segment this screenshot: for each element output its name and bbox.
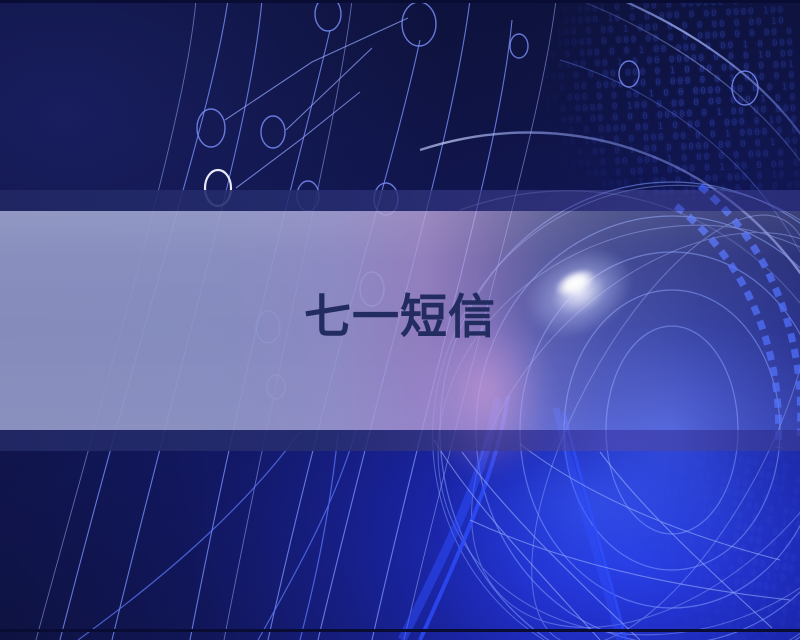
network-node-circle <box>732 71 758 105</box>
band-dark-top <box>0 190 800 211</box>
network-node-circle <box>402 2 436 46</box>
band-light-sheen <box>0 211 800 430</box>
network-node-circle <box>261 116 285 148</box>
network-node-circle <box>510 34 528 58</box>
top-rule <box>0 0 800 3</box>
bottom-rule <box>0 629 800 632</box>
band-dark-bottom <box>0 430 800 451</box>
network-node-circle <box>315 0 341 31</box>
banner-image: 0 10 0001 0 1 00 0 000000 0 0 1 0000 000… <box>0 0 800 640</box>
network-node-circle <box>619 61 639 87</box>
network-node-circle <box>197 109 225 147</box>
